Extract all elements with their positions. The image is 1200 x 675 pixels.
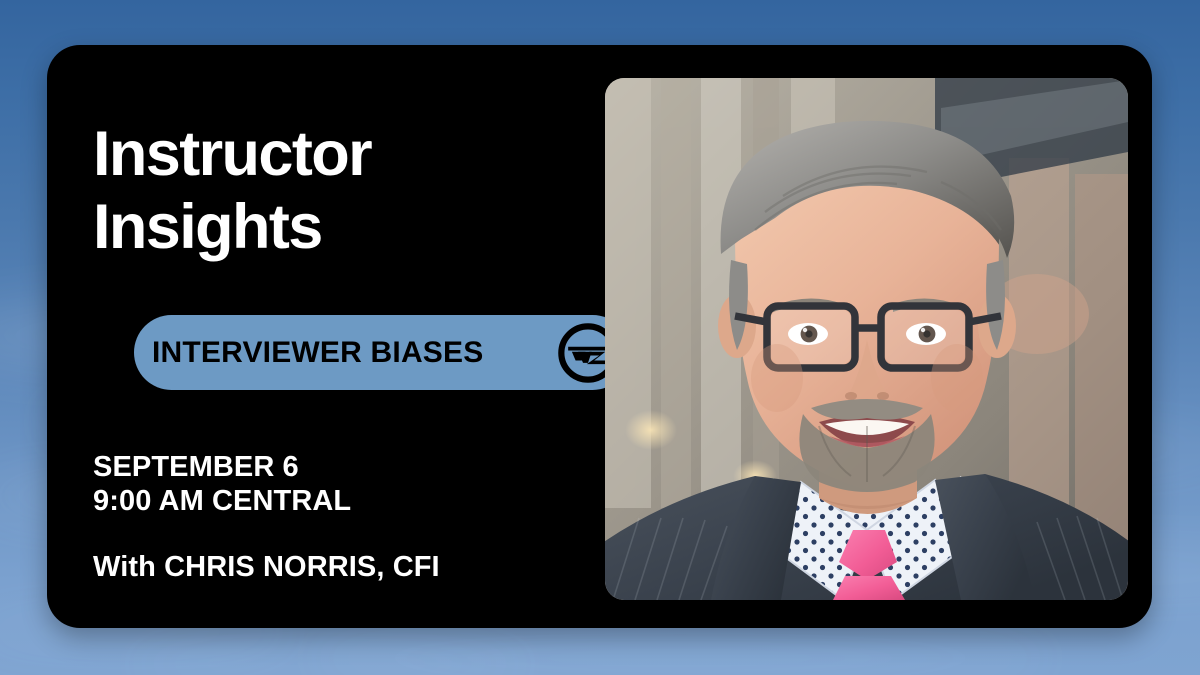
presenter-portrait — [605, 78, 1128, 600]
presenter-name: With CHRIS NORRIS, CFI — [93, 551, 440, 584]
event-schedule: SEPTEMBER 6 9:00 AM CENTRAL — [93, 450, 351, 518]
title-line-1: Instructor — [93, 118, 593, 191]
event-date: SEPTEMBER 6 — [93, 450, 351, 484]
topic-badge: INTERVIEWER BIASES — [134, 315, 630, 390]
event-time: 9:00 AM CENTRAL — [93, 484, 351, 518]
page-title: Instructor Insights — [93, 118, 593, 264]
webinar-announcement-card: Instructor Insights INTERVIEWER BIASES S… — [47, 45, 1152, 628]
card-text-column: Instructor Insights INTERVIEWER BIASES S… — [93, 45, 613, 628]
cloud-wisp — [300, 636, 1060, 675]
topic-badge-label: INTERVIEWER BIASES — [152, 336, 483, 370]
portrait-illustration — [605, 78, 1128, 600]
promo-graphic: Instructor Insights INTERVIEWER BIASES S… — [0, 0, 1200, 675]
cloud-wisp — [120, 646, 540, 675]
title-line-2: Insights — [93, 191, 593, 264]
